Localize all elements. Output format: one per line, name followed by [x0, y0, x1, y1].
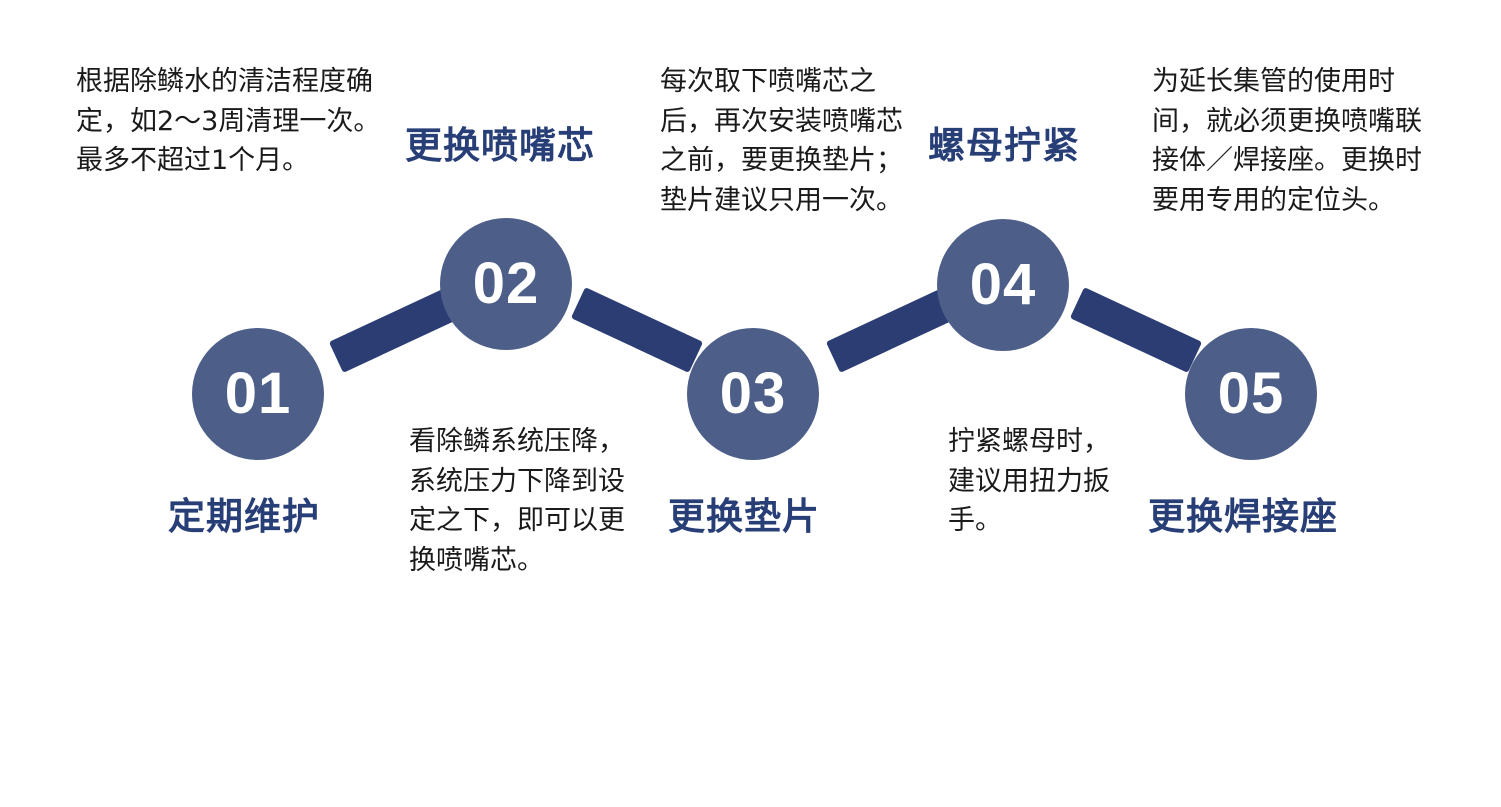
step-number-1: 01: [225, 365, 292, 423]
step-circle-4[interactable]: 04: [937, 219, 1069, 351]
connector-bar-4-5: [1070, 287, 1202, 373]
step-body-3: 每次取下喷嘴芯之后，再次安装喷嘴芯之前，要更换垫片；垫片建议只用一次。: [660, 62, 905, 221]
step-body-1: 根据除鳞水的清洁程度确定，如2～3周清理一次。最多不超过1个月。: [76, 62, 392, 181]
step-number-2: 02: [473, 255, 540, 313]
step-title-4: 螺母拧紧: [928, 126, 1080, 167]
step-body-4: 拧紧螺母时，建议用扭力扳手。: [948, 422, 1116, 541]
step-title-2: 更换喷嘴芯: [405, 126, 595, 167]
step-body-5: 为延长集管的使用时间，就必须更换喷嘴联接体／焊接座。更换时要用专用的定位头。: [1152, 62, 1432, 221]
infographic-canvas: 根据除鳞水的清洁程度确定，如2～3周清理一次。最多不超过1个月。 01 定期维护…: [0, 0, 1501, 807]
step-title-5: 更换焊接座: [1148, 497, 1338, 538]
step-circle-2[interactable]: 02: [440, 218, 572, 350]
step-number-4: 04: [970, 256, 1037, 314]
connector-bar-2-3: [571, 287, 703, 373]
step-number-3: 03: [720, 365, 787, 423]
step-body-2: 看除鳞系统压降，系统压力下降到设定之下，即可以更换喷嘴芯。: [409, 422, 625, 581]
step-title-1: 定期维护: [168, 497, 320, 538]
step-title-3: 更换垫片: [668, 497, 820, 538]
step-number-5: 05: [1218, 365, 1285, 423]
step-circle-5[interactable]: 05: [1185, 328, 1317, 460]
step-circle-3[interactable]: 03: [687, 328, 819, 460]
step-circle-1[interactable]: 01: [192, 328, 324, 460]
